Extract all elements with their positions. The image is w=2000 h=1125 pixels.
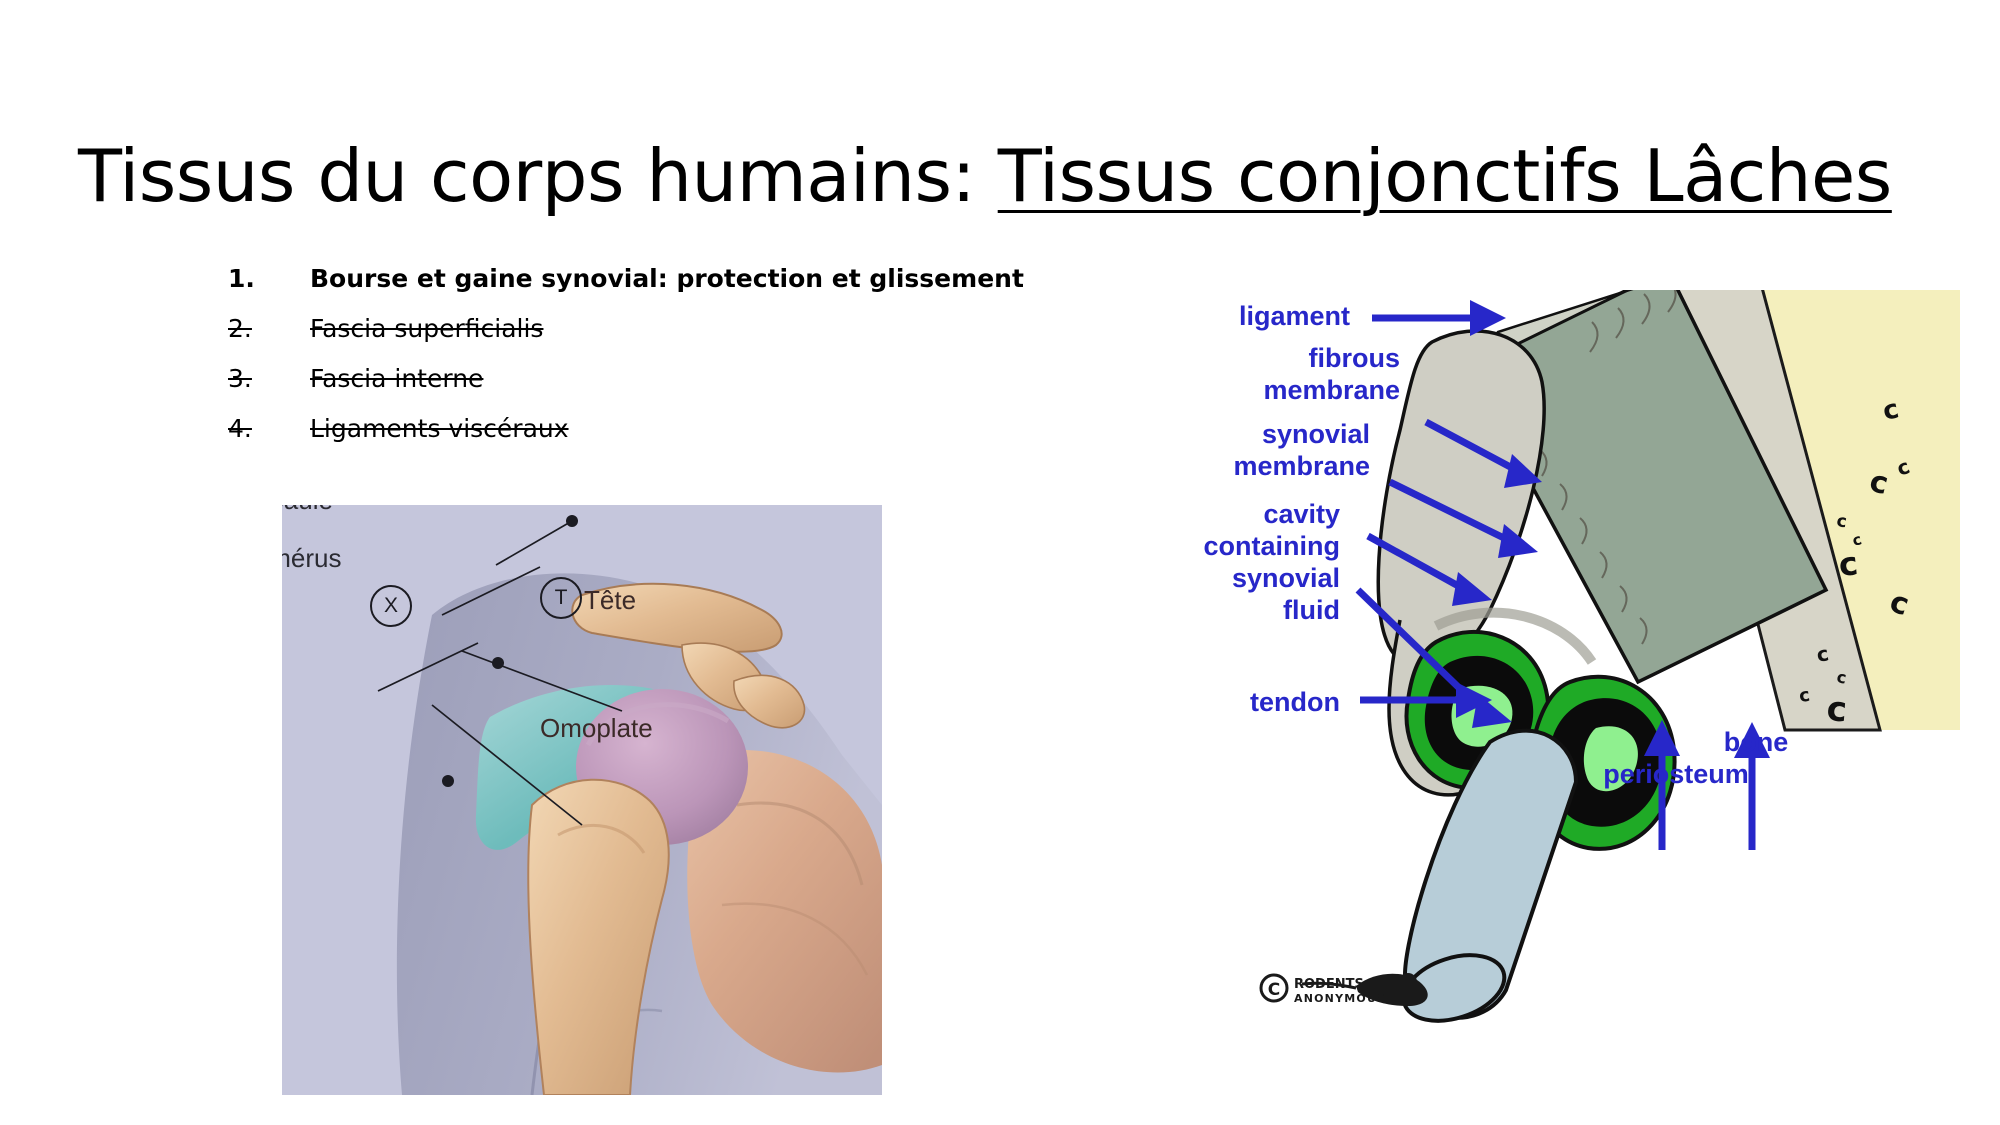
list-item[interactable]: 3. Fascia interne — [228, 354, 1128, 404]
syn-label-fibrous-membrane-line1: fibrous — [1080, 342, 1400, 374]
list-item-number: 2. — [228, 304, 310, 354]
svg-text:C: C — [1268, 980, 1280, 1000]
list-item[interactable]: 2. Fascia superficialis — [228, 304, 1128, 354]
watermark-line1-text: RODENTS — [1294, 977, 1364, 992]
list-item-number: 1. — [228, 254, 310, 304]
page-title-underlined: Tissus conjonctifs Lâches — [998, 134, 1892, 218]
svg-text:c: c — [1837, 544, 1860, 584]
syn-label-synovial-membrane-line2: membrane — [1040, 450, 1370, 482]
syn-label-cavity-line2: containing — [1020, 530, 1340, 562]
syn-label-synovial-membrane-line1: synovial — [1060, 418, 1370, 450]
mouse-logo-icon: C RODENTS ANONYMOUSE — [1258, 962, 1448, 1014]
list-item-label: Fascia superficialis — [310, 304, 543, 354]
list-item-label: Bourse et gaine synovial: protection et … — [310, 254, 1024, 304]
watermark-line2-text: ANONYMOUSE — [1294, 992, 1395, 1005]
shoulder-illustration — [282, 505, 882, 1095]
list-item[interactable]: 4. Ligaments viscéraux — [228, 404, 1128, 454]
page-title: Tissus du corps humains: Tissus conjonct… — [78, 140, 1928, 212]
svg-text:c: c — [1825, 689, 1848, 730]
bullet-list: 1. Bourse et gaine synovial: protection … — [228, 254, 1128, 454]
shoulder-bursa-figure[interactable]: Clavicule Bourse Épaule Humérus Tête Omo… — [282, 505, 882, 1095]
list-item-label: Fascia interne — [310, 354, 483, 404]
list-item[interactable]: 1. Bourse et gaine synovial: protection … — [228, 254, 1128, 304]
shoulder-marker-x: X — [370, 585, 412, 627]
syn-label-tendon: tendon — [1040, 686, 1340, 718]
list-item-number: 3. — [228, 354, 310, 404]
list-item-label: Ligaments viscéraux — [310, 404, 569, 454]
syn-label-fibrous-membrane-line2: membrane — [1060, 374, 1400, 406]
syn-label-periosteum: periosteum — [1556, 758, 1796, 790]
page-title-plain: Tissus du corps humains: — [78, 134, 998, 218]
shoulder-label-omoplate: Omoplate — [540, 713, 653, 744]
shoulder-label-humerus: Humérus — [282, 543, 341, 574]
synovial-sheath-figure[interactable]: c c c c c c c c c c c — [1240, 290, 1960, 1030]
shoulder-marker-t: T — [540, 577, 582, 619]
shoulder-label-tete: Tête — [584, 585, 636, 616]
syn-label-bone: bone — [1636, 726, 1876, 758]
shoulder-label-epaule: Épaule — [282, 505, 333, 516]
syn-label-ligament: ligament — [1080, 300, 1350, 332]
syn-label-cavity-line3: synovial — [1030, 562, 1340, 594]
rodents-anonymouse-watermark: C RODENTS ANONYMOUSE — [1258, 962, 1448, 1014]
syn-label-cavity-line4: fluid — [1050, 594, 1340, 626]
syn-label-cavity-line1: cavity — [1040, 498, 1340, 530]
list-item-number: 4. — [228, 404, 310, 454]
